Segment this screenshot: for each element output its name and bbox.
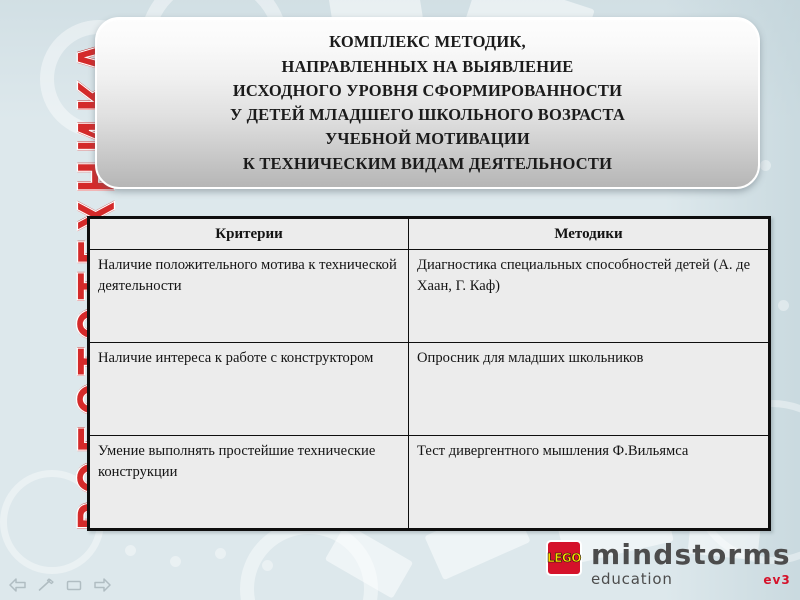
cell-criterion: Наличие положительного мотива к техничес… <box>89 250 409 343</box>
cell-method: Опросник для младших школьников <box>409 343 770 436</box>
background-stud-icon <box>262 560 273 571</box>
ev3-label: ev3 <box>763 574 790 586</box>
page-title: КОМПЛЕКС МЕТОДИК, НАПРАВЛЕННЫХ НА ВЫЯВЛЕ… <box>216 30 639 176</box>
background-stud-icon <box>778 300 789 311</box>
background-stud-icon <box>125 545 136 556</box>
pen-icon[interactable] <box>36 576 56 594</box>
methods-table: Критерии Методики Наличие положительного… <box>87 216 771 531</box>
logo-wordblock: mindstorms education ev3 <box>591 540 791 587</box>
cell-method: Тест дивергентного мышления Ф.Вильямса <box>409 436 770 530</box>
background-stud-icon <box>170 556 181 567</box>
cell-criterion: Умение выполнять простейшие технические … <box>89 436 409 530</box>
column-header-methods: Методики <box>409 218 770 250</box>
table-header-row: Критерии Методики <box>89 218 770 250</box>
slideshow-nav-controls[interactable] <box>8 576 112 594</box>
slide-menu-icon[interactable] <box>64 576 84 594</box>
logo-bottom-row: education ev3 <box>591 572 791 587</box>
table-row: Наличие интереса к работе с конструкторо… <box>89 343 770 436</box>
table-row: Умение выполнять простейшие технические … <box>89 436 770 530</box>
cell-method: Диагностика специальных способностей дет… <box>409 250 770 343</box>
background-stud-icon <box>215 548 226 559</box>
table-row: Наличие положительного мотива к техничес… <box>89 250 770 343</box>
mindstorms-row: mindstorms <box>591 541 791 569</box>
background-gear-icon <box>240 520 378 600</box>
lego-wordmark: LEGO <box>547 551 581 565</box>
education-label: education <box>591 572 673 587</box>
background-stud-icon <box>760 160 771 171</box>
lego-badge-icon: LEGO <box>546 540 582 576</box>
background-brick-shape <box>325 523 414 598</box>
previous-slide-arrow-icon[interactable] <box>8 576 28 594</box>
cell-criterion: Наличие интереса к работе с конструкторо… <box>89 343 409 436</box>
column-header-criteria: Критерии <box>89 218 409 250</box>
next-slide-arrow-icon[interactable] <box>92 576 112 594</box>
presentation-slide: РОБОТОТЕХНИКА КОМПЛЕКС МЕТОДИК, НАПРАВЛЕ… <box>0 0 800 600</box>
mindstorms-wordmark: mindstorms <box>591 541 791 569</box>
lego-mindstorms-logo: LEGO mindstorms education ev3 <box>546 540 791 587</box>
title-plate: КОМПЛЕКС МЕТОДИК, НАПРАВЛЕННЫХ НА ВЫЯВЛЕ… <box>95 17 760 189</box>
